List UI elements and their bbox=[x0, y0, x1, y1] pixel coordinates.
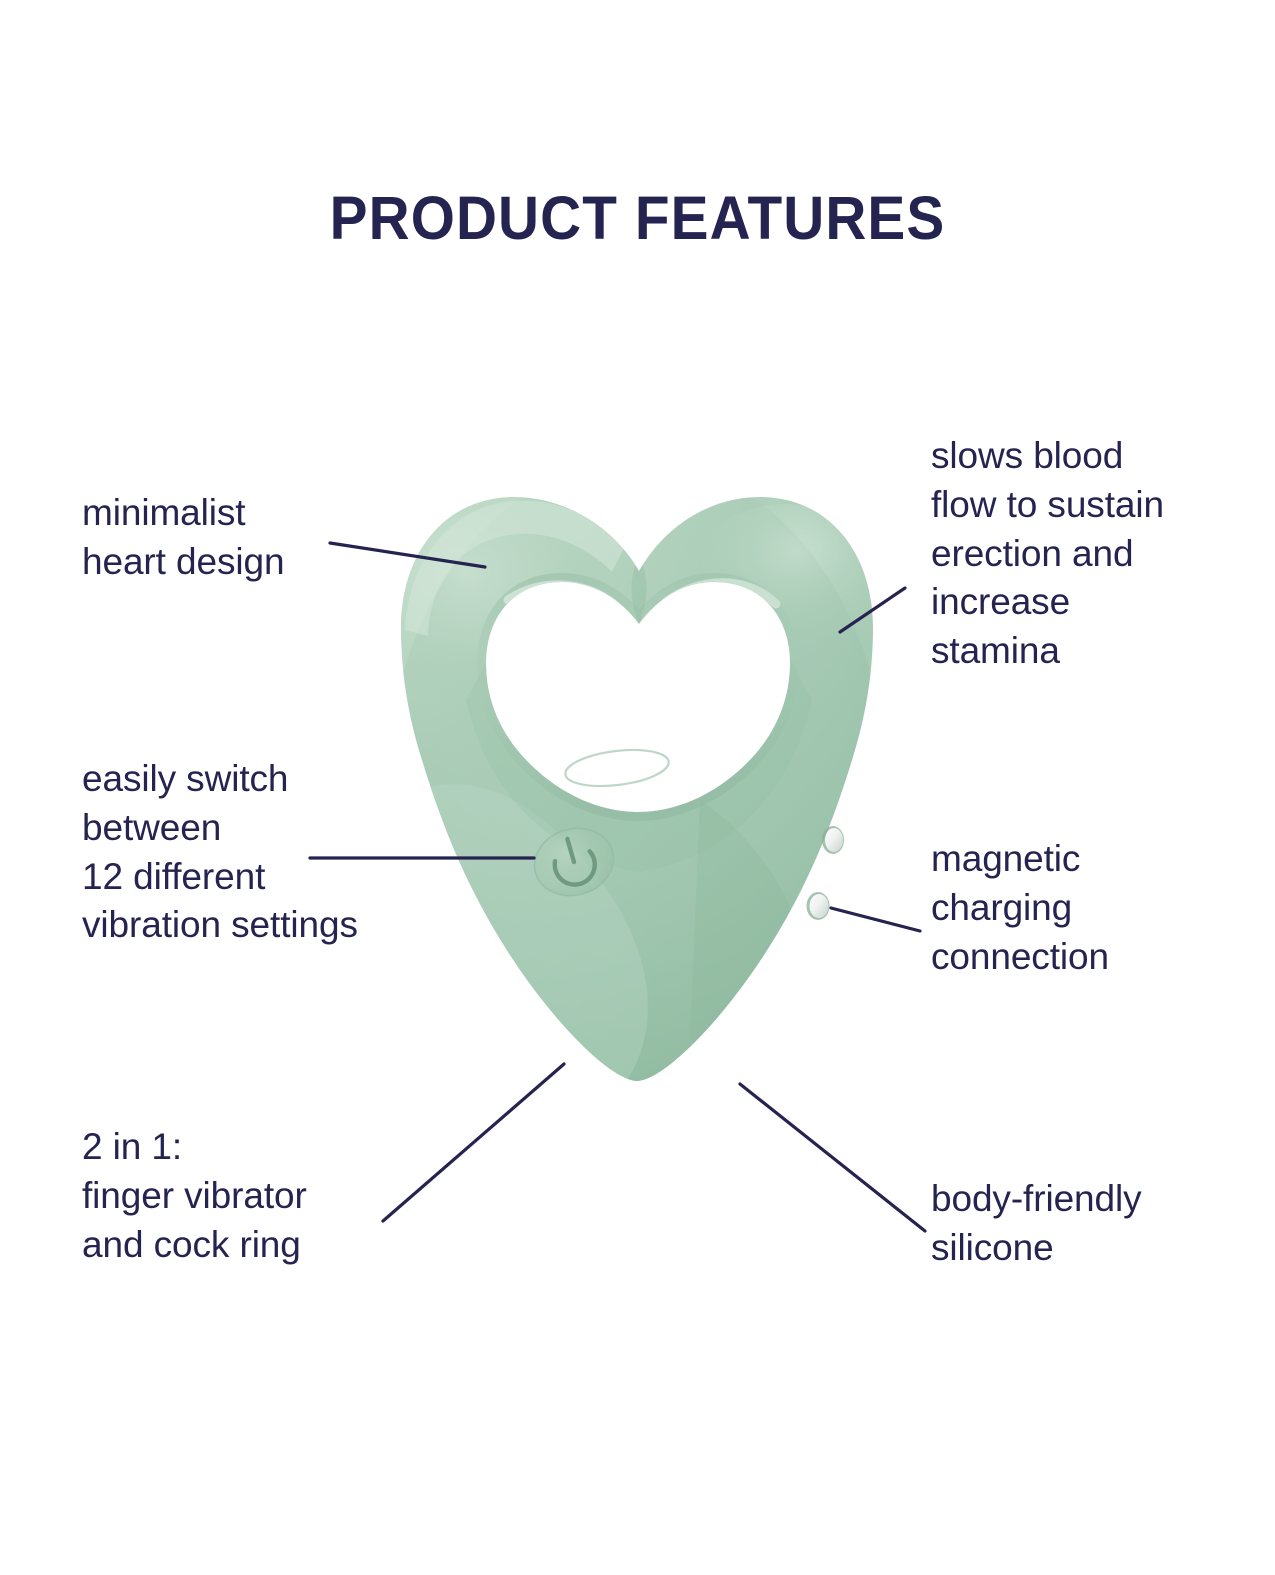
leader-line-magnetic bbox=[831, 908, 920, 931]
right-lobe-highlight bbox=[680, 504, 892, 688]
callout-slows-blood-flow: slows blood flow to sustain erection and… bbox=[931, 432, 1251, 676]
ring-right-specular bbox=[666, 583, 776, 604]
callout-body-friendly-silicone: body-friendly silicone bbox=[931, 1175, 1231, 1273]
callout-minimalist-heart-design: minimalist heart design bbox=[82, 489, 412, 587]
product-features-infographic: PRODUCT FEATURES bbox=[0, 0, 1275, 1575]
power-icon bbox=[548, 833, 599, 889]
charging-contacts bbox=[807, 826, 845, 920]
leader-line-silicone bbox=[740, 1084, 925, 1231]
power-button-recess bbox=[526, 819, 621, 904]
ring-under-shadow bbox=[466, 663, 812, 872]
outer-rim-light bbox=[405, 501, 624, 636]
page-title: PRODUCT FEATURES bbox=[45, 183, 1231, 253]
charging-contact-upper bbox=[822, 826, 844, 854]
engraved-seam-oval bbox=[563, 745, 670, 791]
power-button-outline bbox=[526, 819, 621, 904]
power-button[interactable] bbox=[526, 819, 621, 904]
inner-ring-rim bbox=[486, 582, 790, 812]
leader-line-bloodflow bbox=[840, 588, 905, 632]
callout-magnetic-charging: magnetic charging connection bbox=[931, 835, 1231, 981]
callout-vibration-settings: easily switch between 12 different vibra… bbox=[82, 755, 482, 950]
callout-two-in-one: 2 in 1: finger vibrator and cock ring bbox=[82, 1123, 432, 1269]
ring-left-specular bbox=[508, 585, 616, 606]
right-crease-shadow bbox=[690, 800, 815, 1090]
charging-contact-lower bbox=[807, 892, 830, 920]
heart-cleft-shadow bbox=[631, 555, 646, 624]
